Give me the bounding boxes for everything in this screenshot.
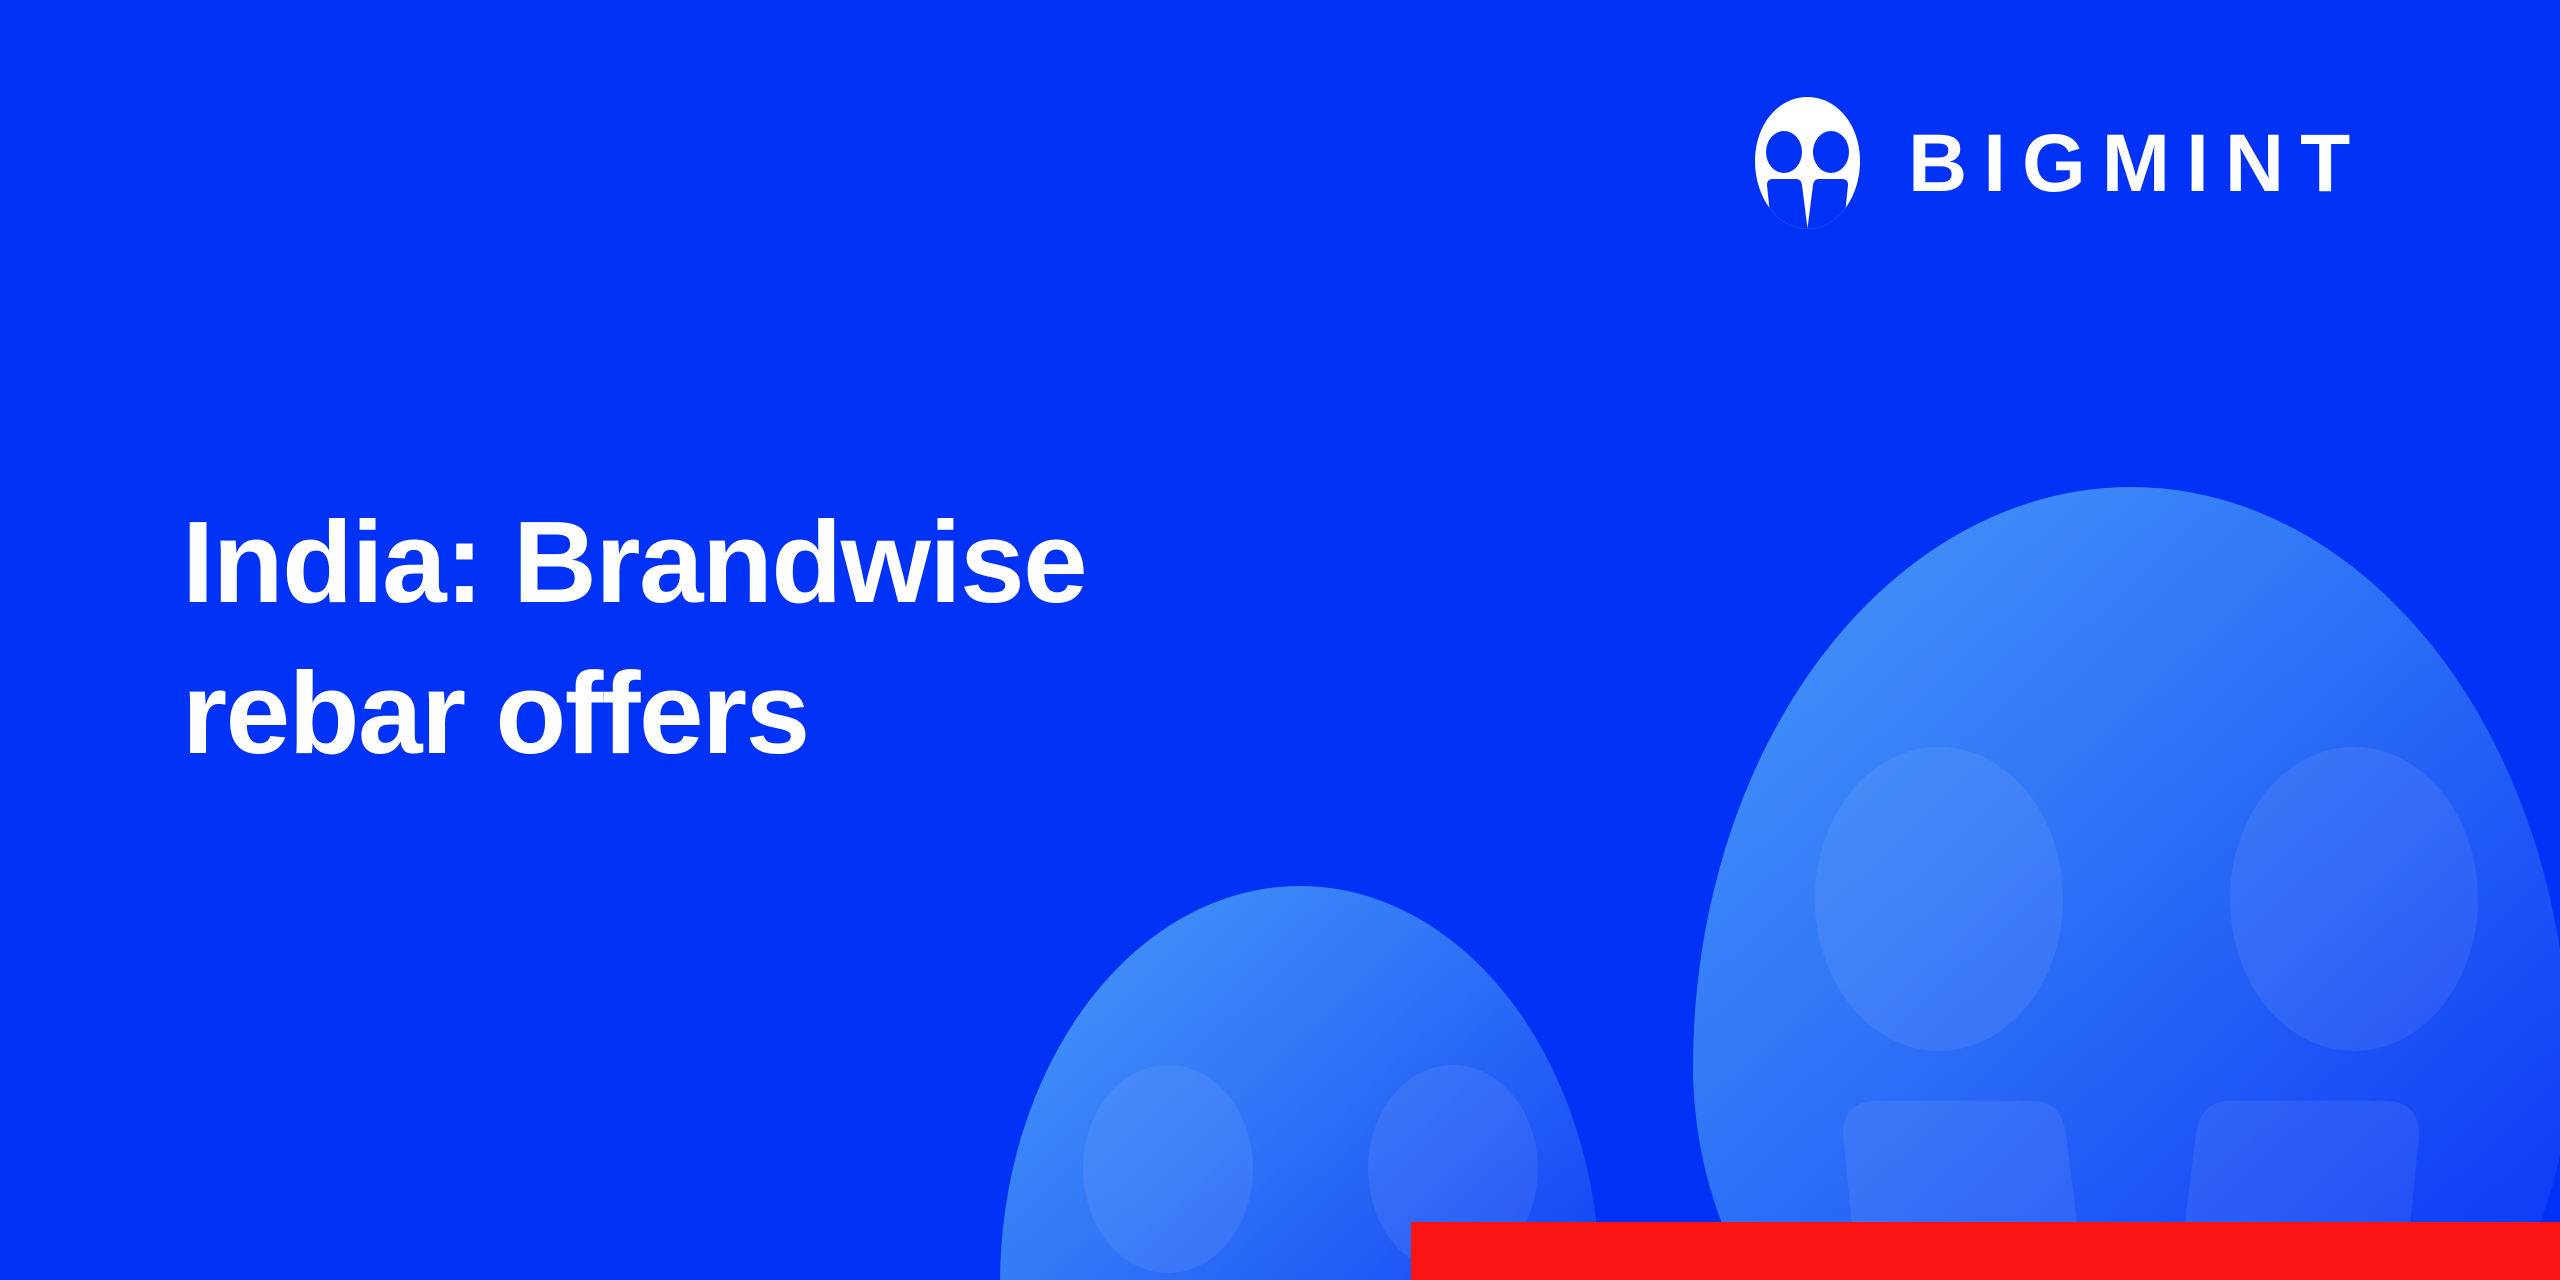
banner-canvas: BIGMINT India: Brandwise rebar offers <box>0 0 2560 1280</box>
decorative-large-egg <box>1693 487 2560 1280</box>
decorative-small-egg <box>1000 886 1600 1280</box>
small-egg-gradient-fill <box>1000 886 1600 1280</box>
large-egg-watermark-icon <box>1693 487 2560 1280</box>
large-egg-gradient-fill <box>1693 487 2560 1280</box>
page-title: India: Brandwise rebar offers <box>182 487 1362 789</box>
brand-wordmark: BIGMINT <box>1908 123 2366 209</box>
red-accent-bar <box>1411 1222 2560 1280</box>
brand-lockup[interactable]: BIGMINT <box>1751 95 2366 237</box>
small-egg-watermark-icon <box>1000 886 1600 1280</box>
bigmint-logo-icon <box>1751 95 1864 237</box>
